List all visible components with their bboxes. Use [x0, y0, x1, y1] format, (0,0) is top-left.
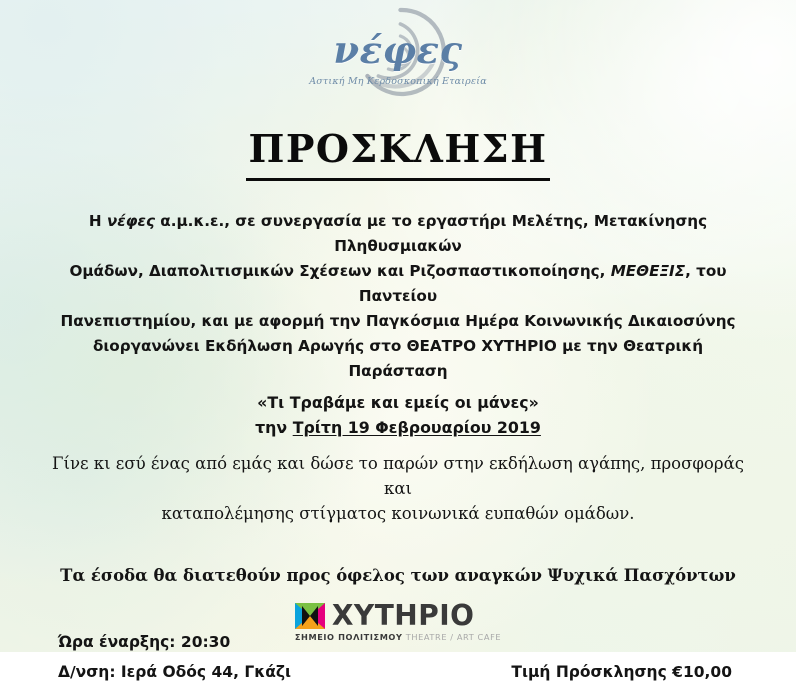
intro-line-2: Ομάδων, Διαπολιτισμικών Σχέσεων και Ριζο…: [44, 259, 752, 309]
intro-line-1-pre: Η: [89, 212, 107, 230]
event-details-row-address: Δ/νση: Ιερά Οδός 44, Γκάζι Τιμή Πρόσκλησ…: [58, 657, 738, 687]
intro-line-4: διοργανώνει Εκδήλωση Αρωγής στο ΘΕΑΤΡΟ Χ…: [44, 334, 752, 384]
invitation-poster: νέφες Αστική Μη Κερδοσκοπική Εταιρεία ΠΡ…: [0, 0, 796, 652]
chytirio-bowtie-icon: [295, 603, 325, 629]
venue-address: Δ/νση: Ιερά Οδός 44, Γκάζι: [58, 657, 291, 687]
appeal-paragraph: Γίνε κι εσύ ένας από εμάς και δώσε το πα…: [50, 451, 746, 526]
event-date-prefix: την: [255, 418, 293, 437]
event-date: Τρίτη 19 Φεβρουαρίου 2019: [293, 418, 541, 437]
intro-line-2-pre: Ομάδων, Διαπολιτισμικών Σχέσεων και Ριζο…: [69, 262, 610, 280]
event-date-line: την Τρίτη 19 Φεβρουαρίου 2019: [0, 418, 796, 437]
nefes-wordmark: νέφες: [303, 28, 493, 72]
chytirio-logo: ΧΥΤΗΡΙΟ ΣΗΜΕΙΟ ΠΟΛΙΤΙΣΜΟΥ THEATRE / ART …: [0, 602, 796, 644]
intro-paragraph: Η νέφες α.μ.κ.ε., σε συνεργασία με το ερ…: [44, 209, 752, 384]
chytirio-tagline: ΣΗΜΕΙΟ ΠΟΛΙΤΙΣΜΟΥ THEATRE / ART CAFE: [295, 632, 501, 642]
intro-line-3: Πανεπιστημίου, και με αφορμή την Παγκόσμ…: [44, 309, 752, 334]
nefes-logo: νέφες Αστική Μη Κερδοσκοπική Εταιρεία: [0, 0, 796, 112]
chytirio-tagline-light: THEATRE / ART CAFE: [403, 632, 502, 642]
page-title-wrap: ΠΡΟΣΚΛΗΣΗ: [0, 112, 796, 181]
page-title: ΠΡΟΣΚΛΗΣΗ: [248, 126, 547, 174]
intro-line-1-emphasis: νέφες: [107, 212, 155, 230]
appeal-line-2: καταπολέμησης στίγματος κοινωνικά ευπαθώ…: [50, 501, 746, 526]
proceeds-note: Τα έσοδα θα διατεθούν προς όφελος των αν…: [40, 566, 756, 585]
intro-line-1-post: α.μ.κ.ε., σε συνεργασία με το εργαστήρι …: [155, 212, 707, 255]
nefes-subtitle: Αστική Μη Κερδοσκοπική Εταιρεία: [303, 76, 493, 87]
intro-line-1: Η νέφες α.μ.κ.ε., σε συνεργασία με το ερ…: [44, 209, 752, 259]
intro-line-2-emphasis: ΜΕΘΕΞΙΣ: [611, 262, 685, 280]
chytirio-wordmark: ΧΥΤΗΡΙΟ: [332, 602, 475, 630]
ticket-price: Τιμή Πρόσκλησης €10,00: [511, 657, 738, 687]
appeal-line-1: Γίνε κι εσύ ένας από εμάς και δώσε το πα…: [50, 451, 746, 501]
play-title: «Τι Τραβάμε και εμείς οι μάνες»: [0, 393, 796, 412]
chytirio-tagline-bold: ΣΗΜΕΙΟ ΠΟΛΙΤΙΣΜΟΥ: [295, 632, 403, 642]
